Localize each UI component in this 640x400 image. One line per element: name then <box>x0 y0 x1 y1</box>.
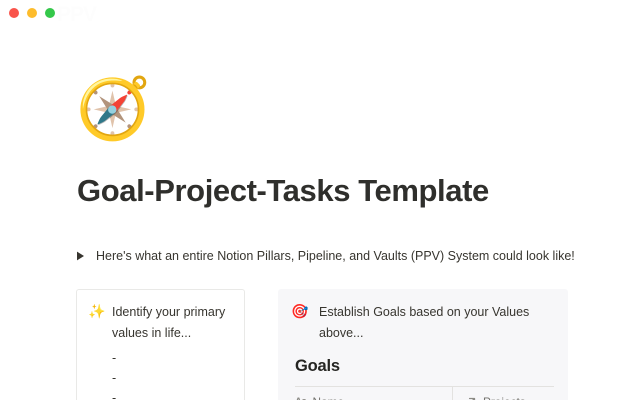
dart-emoji: 🎯 <box>291 302 308 321</box>
database-header-row: Aa Name Projects <box>295 386 554 400</box>
logo-watermark: PPV <box>57 1 143 28</box>
app-window: PPV 🧭 Goal-Project-Tasks Template Here's… <box>0 0 640 400</box>
relation-arrow-icon <box>464 395 477 400</box>
page-title[interactable]: Goal-Project-Tasks Template <box>77 171 617 211</box>
goals-callout-text[interactable]: Establish Goals based on your Values abo… <box>315 302 554 344</box>
close-button[interactable] <box>9 8 19 18</box>
text-aa-icon: Aa <box>295 396 307 400</box>
database-title[interactable]: Goals <box>295 355 554 377</box>
maximize-button[interactable] <box>45 8 55 18</box>
values-card[interactable]: ✨ Identify your primary values in life..… <box>76 289 245 400</box>
sparkles-emoji: ✨ <box>88 302 105 321</box>
page-body: 🧭 Goal-Project-Tasks Template Here's wha… <box>0 26 640 400</box>
window-chrome: PPV <box>0 0 640 26</box>
goals-database: Goals Aa Name <box>291 355 554 400</box>
column-header-projects[interactable]: Projects <box>452 387 554 400</box>
toggle-label: Here's what an entire Notion Pillars, Pi… <box>94 246 575 266</box>
list-item[interactable]: - <box>112 348 230 368</box>
values-bullet-list: - - - <box>88 348 230 400</box>
values-callout: ✨ Identify your primary values in life..… <box>88 302 230 344</box>
compass-emoji[interactable]: 🧭 <box>76 75 144 143</box>
traffic-light-buttons <box>9 8 55 18</box>
column-header-projects-label: Projects <box>483 395 526 400</box>
values-callout-text[interactable]: Identify your primary values in life... <box>112 302 230 344</box>
minimize-button[interactable] <box>27 8 37 18</box>
list-item[interactable]: - <box>112 368 230 388</box>
toggle-block[interactable]: Here's what an entire Notion Pillars, Pi… <box>76 245 616 267</box>
goals-card[interactable]: 🎯 Establish Goals based on your Values a… <box>278 289 568 400</box>
triangle-right-icon[interactable] <box>76 247 94 265</box>
column-header-name[interactable]: Aa Name <box>295 387 452 400</box>
goals-callout: 🎯 Establish Goals based on your Values a… <box>291 302 554 344</box>
list-item[interactable]: - <box>112 388 230 400</box>
two-column-layout: ✨ Identify your primary values in life..… <box>76 289 568 400</box>
column-header-name-label: Name <box>313 395 344 400</box>
